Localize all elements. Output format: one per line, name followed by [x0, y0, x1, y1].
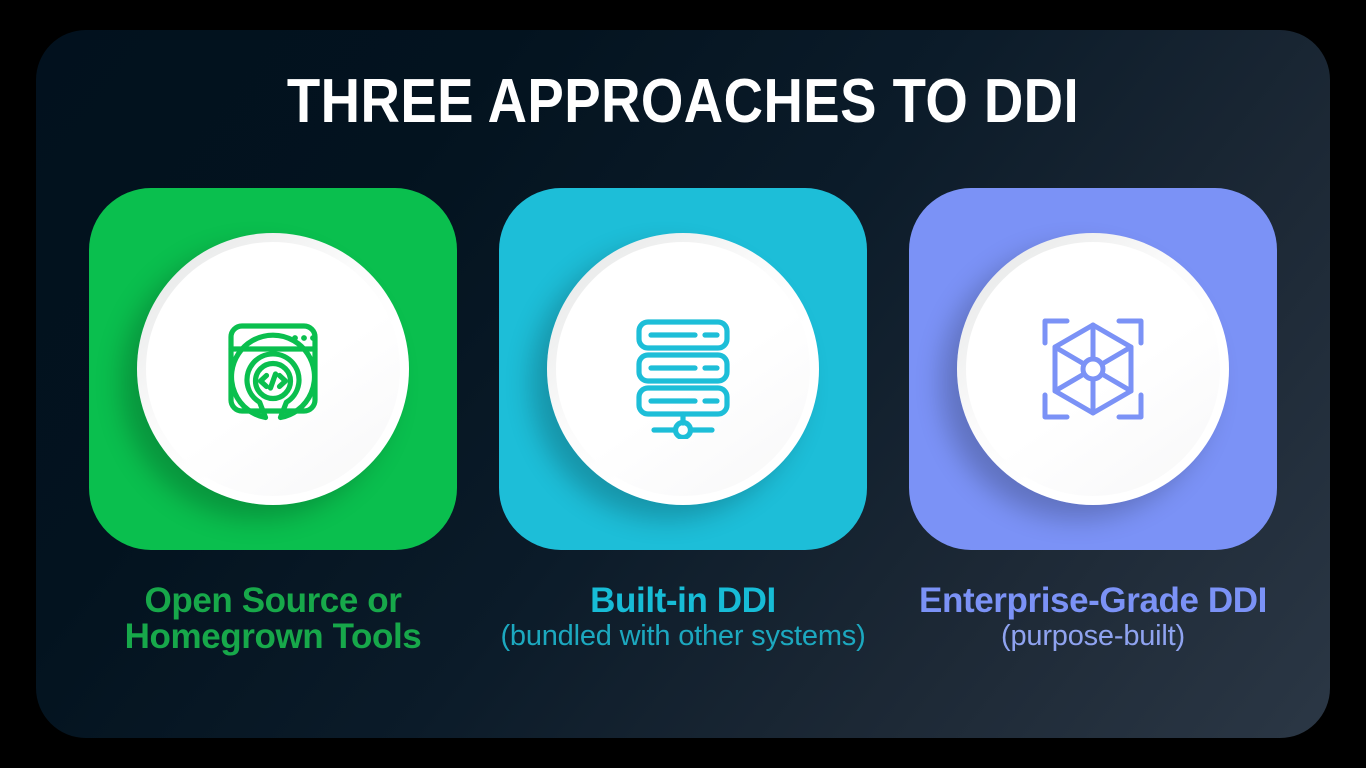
server-stack-network-icon: [613, 299, 753, 439]
approach-title: Open Source or Homegrown Tools: [83, 583, 463, 656]
approach-card-built-in-ddi[interactable]: Built-in DDI (bundled with other systems…: [496, 188, 871, 656]
card-tile-cyan[interactable]: [499, 188, 867, 550]
hexagon-node-scan-icon: [1023, 299, 1163, 439]
approach-subtitle: (bundled with other systems): [493, 621, 873, 651]
approach-subtitle: (purpose-built): [903, 621, 1283, 651]
card-tile-green[interactable]: [89, 188, 457, 550]
icon-disc: [137, 233, 409, 505]
content-panel: THREE APPROACHES TO DDI: [36, 30, 1330, 738]
approach-label-enterprise-grade-ddi: Enterprise-Grade DDI (purpose-built): [903, 583, 1283, 652]
approach-title: Built-in DDI: [493, 583, 873, 619]
approach-label-built-in-ddi: Built-in DDI (bundled with other systems…: [493, 583, 873, 652]
approach-title: Enterprise-Grade DDI: [903, 583, 1283, 619]
approach-label-open-source: Open Source or Homegrown Tools: [83, 583, 463, 656]
icon-disc: [957, 233, 1229, 505]
infographic-stage: THREE APPROACHES TO DDI: [0, 0, 1366, 768]
approaches-row: Open Source or Homegrown Tools: [36, 188, 1330, 656]
card-tile-blue[interactable]: [909, 188, 1277, 550]
approach-card-open-source[interactable]: Open Source or Homegrown Tools: [86, 188, 461, 656]
icon-disc: [547, 233, 819, 505]
approach-card-enterprise-grade-ddi[interactable]: Enterprise-Grade DDI (purpose-built): [906, 188, 1281, 656]
open-source-browser-icon: [203, 299, 343, 439]
page-title: THREE APPROACHES TO DDI: [114, 66, 1253, 137]
